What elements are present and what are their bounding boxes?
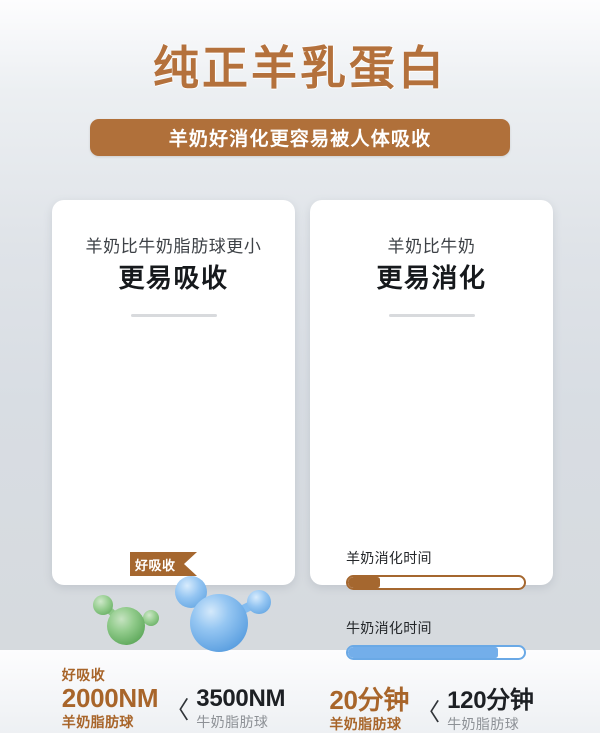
digestion-comparator-icon: 〈 <box>416 701 440 725</box>
subtitle-banner: 羊奶好消化更容易被人体吸收 <box>90 119 510 156</box>
card-digestion-header: 羊奶比牛奶 更易消化 <box>310 200 553 317</box>
molecule-cow <box>175 576 271 652</box>
card-digestion-subtitle: 羊奶比牛奶 <box>310 234 553 260</box>
goat-milk-digestion-label: 羊奶消化时间 <box>346 548 526 568</box>
absorption-stat-goat-tag: 好吸收 <box>62 666 158 684</box>
cow-milk-digestion-label: 牛奶消化时间 <box>346 618 526 638</box>
cow-milk-digestion-group: 牛奶消化时间 <box>346 618 526 660</box>
digestion-stat-goat: 20分钟 羊奶脂肪球 <box>329 686 409 733</box>
digestion-stats-row: 20分钟 羊奶脂肪球 〈 120分钟 牛奶脂肪球 <box>310 686 553 733</box>
absorption-stat-goat-value: 2000NM <box>62 684 158 713</box>
absorption-stat-goat: 好吸收 2000NM 羊奶脂肪球 <box>62 666 158 731</box>
absorption-stat-cow: 3500NM 牛奶脂肪球 <box>196 685 285 731</box>
page-title: 纯正羊乳蛋白 <box>0 40 600 96</box>
digestion-stat-goat-value: 20分钟 <box>329 686 409 715</box>
card-digestion: 羊奶比牛奶 更易消化 羊奶消化时间 牛奶消化时间 20分钟 羊奶脂肪球 〈 12… <box>310 200 553 585</box>
goat-milk-digestion-fill <box>348 577 380 588</box>
molecule-svg <box>52 573 295 665</box>
cow-milk-digestion-bar <box>346 645 526 660</box>
card-absorption-header: 羊奶比牛奶脂肪球更小 更易吸收 <box>52 200 295 317</box>
card-digestion-title: 更易消化 <box>310 261 553 295</box>
goat-milk-digestion-group: 羊奶消化时间 <box>346 548 526 590</box>
digestion-stat-goat-label: 羊奶脂肪球 <box>329 715 409 733</box>
absorption-stat-cow-label: 牛奶脂肪球 <box>196 713 285 731</box>
subtitle-banner-text: 羊奶好消化更容易被人体吸收 <box>169 124 432 151</box>
digestion-stat-cow: 120分钟 牛奶脂肪球 <box>447 687 534 733</box>
digestion-stat-cow-label: 牛奶脂肪球 <box>447 715 534 733</box>
card-digestion-divider <box>389 314 475 317</box>
absorption-comparator-icon: 〈 <box>165 699 189 723</box>
molecule-goat <box>93 595 159 645</box>
absorption-stats-row: 好吸收 2000NM 羊奶脂肪球 〈 3500NM 牛奶脂肪球 <box>52 666 295 731</box>
digestion-stat-cow-value: 120分钟 <box>447 687 534 715</box>
card-absorption-title: 更易吸收 <box>52 261 295 295</box>
absorption-stat-goat-label: 羊奶脂肪球 <box>62 713 158 731</box>
cow-milk-digestion-fill <box>348 647 498 658</box>
good-absorption-ribbon-label: 好吸收 <box>135 555 176 574</box>
card-absorption: 羊奶比牛奶脂肪球更小 更易吸收 好吸收 <box>52 200 295 585</box>
molecule-illustration <box>52 573 295 665</box>
absorption-stat-cow-value: 3500NM <box>196 685 285 713</box>
card-absorption-subtitle: 羊奶比牛奶脂肪球更小 <box>52 234 295 260</box>
goat-milk-digestion-bar <box>346 575 526 590</box>
card-absorption-divider <box>131 314 217 317</box>
